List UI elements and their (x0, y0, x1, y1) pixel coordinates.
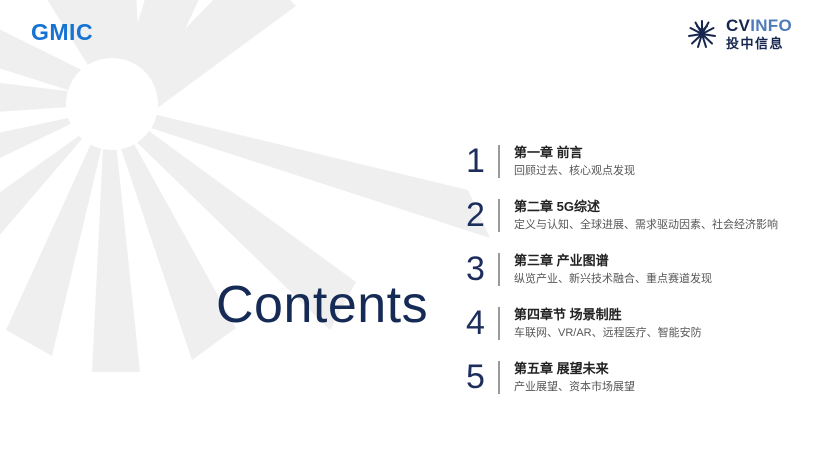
toc-item-text: 第五章 展望未来 产业展望、资本市场展望 (514, 359, 796, 395)
cvinfo-word-chinese: 投中信息 (726, 36, 792, 52)
cvinfo-word-line: CVINFO (726, 17, 792, 35)
starburst-icon (686, 18, 718, 50)
toc-item-number: 1 (466, 143, 492, 179)
toc-item-number: 2 (466, 197, 492, 233)
toc-item-heading: 第三章 产业图谱 (514, 252, 796, 269)
gmic-logo: GMIC (31, 19, 93, 46)
toc-item-divider (498, 361, 500, 394)
presentation-slide: GMIC CVINFO 投中信息 Contents (0, 0, 825, 457)
toc-item-subtitle: 产业展望、资本市场展望 (514, 379, 796, 395)
toc-item-text: 第二章 5G综述 定义与认知、全球进展、需求驱动因素、社会经济影响 (514, 197, 796, 233)
toc-item-text: 第四章节 场景制胜 车联网、VR/AR、远程医疗、智能安防 (514, 305, 796, 341)
toc-item[interactable]: 2 第二章 5G综述 定义与认知、全球进展、需求驱动因素、社会经济影响 (466, 197, 796, 251)
cvinfo-logo: CVINFO 投中信息 (686, 17, 792, 51)
cvinfo-word-secondary: INFO (750, 16, 792, 35)
toc-item[interactable]: 3 第三章 产业图谱 纵览产业、新兴技术融合、重点赛道发现 (466, 251, 796, 305)
toc-item[interactable]: 5 第五章 展望未来 产业展望、资本市场展望 (466, 359, 796, 413)
cvinfo-word-primary: CV (726, 16, 750, 35)
toc-item-subtitle: 车联网、VR/AR、远程医疗、智能安防 (514, 325, 796, 341)
toc-item-divider (498, 307, 500, 340)
toc-item-number: 3 (466, 251, 492, 287)
toc-item-number: 4 (466, 305, 492, 341)
toc-item-number: 5 (466, 359, 492, 395)
cvinfo-wordmark: CVINFO 投中信息 (726, 17, 792, 51)
toc-item-heading: 第二章 5G综述 (514, 198, 796, 215)
toc-item[interactable]: 1 第一章 前言 回顾过去、核心观点发现 (466, 143, 796, 197)
toc-item[interactable]: 4 第四章节 场景制胜 车联网、VR/AR、远程医疗、智能安防 (466, 305, 796, 359)
toc-item-subtitle: 定义与认知、全球进展、需求驱动因素、社会经济影响 (514, 217, 796, 233)
toc-item-heading: 第五章 展望未来 (514, 360, 796, 377)
table-of-contents: 1 第一章 前言 回顾过去、核心观点发现 2 第二章 5G综述 定义与认知、全球… (466, 143, 796, 413)
toc-item-heading: 第四章节 场景制胜 (514, 306, 796, 323)
toc-item-divider (498, 199, 500, 232)
page-title: Contents (216, 279, 428, 331)
toc-item-text: 第三章 产业图谱 纵览产业、新兴技术融合、重点赛道发现 (514, 251, 796, 287)
toc-item-heading: 第一章 前言 (514, 144, 796, 161)
toc-item-text: 第一章 前言 回顾过去、核心观点发现 (514, 143, 796, 179)
toc-item-divider (498, 253, 500, 286)
toc-item-subtitle: 回顾过去、核心观点发现 (514, 163, 796, 179)
toc-item-subtitle: 纵览产业、新兴技术融合、重点赛道发现 (514, 271, 796, 287)
toc-item-divider (498, 145, 500, 178)
